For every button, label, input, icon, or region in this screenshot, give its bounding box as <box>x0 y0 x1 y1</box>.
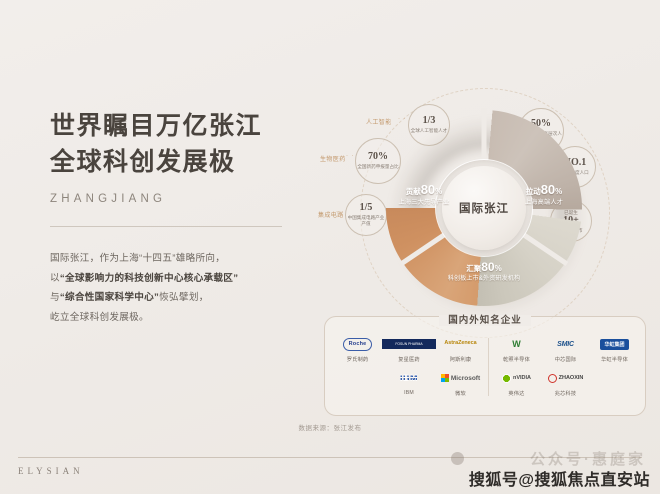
microsoft-logo-text: Microsoft <box>441 374 480 382</box>
callout-bubble-chip: 1/5 中国集成电路产业产值 <box>345 194 387 236</box>
microsoft-wordmark: Microsoft <box>451 375 480 382</box>
donut-label-bottom: 汇聚80% 科创板上市&外资研发机构 <box>434 260 534 284</box>
body-line-3-prefix: 与 <box>50 292 60 303</box>
leader-dots-chip: · · <box>336 209 345 215</box>
ibm-logo: IBM <box>400 368 418 388</box>
zhaoxin-logo-text: ZHAOXIN <box>548 374 584 383</box>
roche-logo: Roche <box>343 334 373 354</box>
donut-center-disc: 国际张江 <box>442 166 526 250</box>
donut-label-bottom-unit: % <box>495 264 502 273</box>
donut-label-right-prefix: 拉动 <box>526 187 541 196</box>
astrazeneca-logo: AstraZeneca <box>444 334 476 354</box>
divider-rule <box>50 226 282 227</box>
companies-divider <box>488 338 489 396</box>
company-name: 罗氏制药 <box>347 356 369 363</box>
donut-label-left-number: 80 <box>421 182 435 197</box>
body-line-3: 与“综合性国家科学中心”恢弘擘划， <box>50 288 290 308</box>
ibm-logo-text: IBM <box>400 373 418 383</box>
company-name: 复星医药 <box>398 356 420 363</box>
company-item: SMIC 中芯国际 <box>555 334 577 363</box>
company-item: AstraZeneca 阿斯利康 <box>444 334 476 363</box>
donut-chart-zone: 人工智能 · · 生物医药 · · 集成电路 · · 1/3 全球人工智能人才 … <box>318 100 648 315</box>
company-col-roche: Roche 罗氏制药 <box>333 334 382 402</box>
companies-panel: 国内外知名企业 Roche 罗氏制药 FOSUN PHARMA 复星医药 IBM… <box>324 316 646 416</box>
company-col-smic: SMIC 中芯国际 ZHAOXIN 兆芯科技 <box>541 334 590 402</box>
fosun-logo: FOSUN PHARMA <box>382 334 436 354</box>
company-name: 阿斯利康 <box>450 356 472 363</box>
donut-label-right-desc: 上海高端人才 <box>512 199 576 207</box>
microsoft-squares-icon <box>441 374 449 382</box>
page-title-line1: 世界瞩目万亿张江 <box>50 110 290 145</box>
huahong-logo: 华虹集团 <box>600 334 628 354</box>
donut-center-label: 国际张江 <box>459 200 509 216</box>
zhaoxin-circle-icon <box>548 374 557 383</box>
company-item: IBM IBM <box>400 368 418 396</box>
roche-logo-text: Roche <box>343 338 373 351</box>
donut-label-right-number: 80 <box>541 182 555 197</box>
donut-label-left: 贡献80% 上海三大先导产业 <box>392 182 456 207</box>
company-col-wingtech: W 乾照半导体 nVIDIA 英伟达 <box>492 334 541 402</box>
brand-logo-text: ELYSIAN <box>18 466 84 476</box>
page-subtitle-pinyin: ZHANGJIANG <box>50 193 290 205</box>
company-item: 华虹集团 华虹半导体 <box>600 334 628 363</box>
nvidia-wordmark: nVIDIA <box>513 375 531 381</box>
donut-label-left-value: 贡献80% <box>392 182 456 198</box>
nvidia-logo: nVIDIA <box>502 368 531 388</box>
donut-label-right-value: 拉动80% <box>512 182 576 198</box>
donut-label-bottom-desc: 科创板上市&外资研发机构 <box>434 276 534 284</box>
leader-dots-bio: · · <box>346 153 355 159</box>
body-paragraph: 国际张江，作为上海“十四五”雄略所向， 以“全球影响力的科技创新中心核心承载区”… <box>50 249 290 328</box>
body-line-1: 国际张江，作为上海“十四五”雄略所向， <box>50 249 290 269</box>
donut-label-bottom-number: 80 <box>481 260 494 274</box>
nvidia-eye-icon <box>502 374 511 383</box>
company-col-fosun: FOSUN PHARMA 复星医药 IBM IBM <box>382 334 436 402</box>
callout-chip-value: 1/5 <box>360 203 373 213</box>
callout-bio-value: 70% <box>368 152 388 162</box>
company-item: ZHAOXIN 兆芯科技 <box>548 368 584 397</box>
left-text-column: 世界瞩目万亿张江 全球科创发展极 ZHANGJIANG 国际张江，作为上海“十四… <box>50 110 290 328</box>
companies-grid: Roche 罗氏制药 FOSUN PHARMA 复星医药 IBM IBM Ast… <box>333 334 639 402</box>
astrazeneca-logo-text: AstraZeneca <box>444 340 476 347</box>
callout-tag-bio: 生物医药 <box>320 154 346 163</box>
callout-chip-desc: 中国集成电路产业产值 <box>346 215 386 227</box>
companies-title-text: 国内外知名企业 <box>439 315 531 326</box>
donut-label-left-prefix: 贡献 <box>406 187 421 196</box>
donut-label-right: 拉动80% 上海高端人才 <box>512 182 576 207</box>
fosun-logo-text: FOSUN PHARMA <box>382 339 436 349</box>
zhaoxin-logo: ZHAOXIN <box>548 368 584 388</box>
company-col-astrazeneca: AstraZeneca 阿斯利康 Microsoft 微软 <box>436 334 485 402</box>
watermark-avatar-icon <box>451 452 464 465</box>
company-item: nVIDIA 英伟达 <box>502 368 531 397</box>
wingtech-logo: W <box>512 334 521 354</box>
companies-panel-title: 国内外知名企业 <box>325 310 645 328</box>
company-name: 微软 <box>455 390 466 397</box>
company-name: 乾照半导体 <box>503 356 530 363</box>
donut-chart: 国际张江 贡献80% 上海三大先导产业 拉动80% 上海高端人才 汇聚80% 科… <box>386 110 582 306</box>
body-line-3-suffix: 恢弘擘划， <box>159 292 208 303</box>
smic-logo: SMIC <box>557 334 574 354</box>
body-line-4: 屹立全球科创发展极。 <box>50 308 290 328</box>
company-name: IBM <box>404 390 414 396</box>
company-col-huahong: 华虹集团 华虹半导体 <box>590 334 639 402</box>
page-title-line2: 全球科创发展极 <box>50 146 290 181</box>
body-line-2-prefix: 以 <box>50 273 60 284</box>
body-line-2: 以“全球影响力的科技创新中心核心承载区” <box>50 269 290 289</box>
donut-label-left-desc: 上海三大先导产业 <box>392 199 456 207</box>
smic-logo-text: SMIC <box>557 341 574 348</box>
body-line-2-emphasis: “全球影响力的科技创新中心核心承载区” <box>60 273 238 284</box>
donut-label-bottom-prefix: 汇聚 <box>466 264 481 273</box>
wingtech-logo-text: W <box>512 339 521 349</box>
company-name: 中芯国际 <box>555 356 577 363</box>
microsoft-logo: Microsoft <box>441 368 480 388</box>
poster-page: 世界瞩目万亿张江 全球科创发展极 ZHANGJIANG 国际张江，作为上海“十四… <box>0 0 660 494</box>
nvidia-logo-text: nVIDIA <box>502 374 531 383</box>
huahong-logo-text: 华虹集团 <box>600 339 628 350</box>
company-item: Roche 罗氏制药 <box>343 334 373 363</box>
company-item: W 乾照半导体 <box>503 334 530 363</box>
donut-label-bottom-value: 汇聚80% <box>434 260 534 275</box>
source-note: 数据来源：张江发布 <box>0 422 660 432</box>
company-item: FOSUN PHARMA 复星医药 <box>382 334 436 363</box>
company-name: 华虹半导体 <box>601 356 628 363</box>
body-line-3-emphasis: “综合性国家科学中心” <box>60 292 159 303</box>
company-name: 兆芯科技 <box>555 390 577 397</box>
zhaoxin-wordmark: ZHAOXIN <box>559 375 584 381</box>
company-item: Microsoft 微软 <box>441 368 480 397</box>
donut-label-right-unit: % <box>555 187 562 196</box>
watermark-main-text: 搜狐号@搜狐焦点直安站 <box>469 466 650 490</box>
company-name: 英伟达 <box>508 390 524 397</box>
donut-label-left-unit: % <box>435 187 442 196</box>
